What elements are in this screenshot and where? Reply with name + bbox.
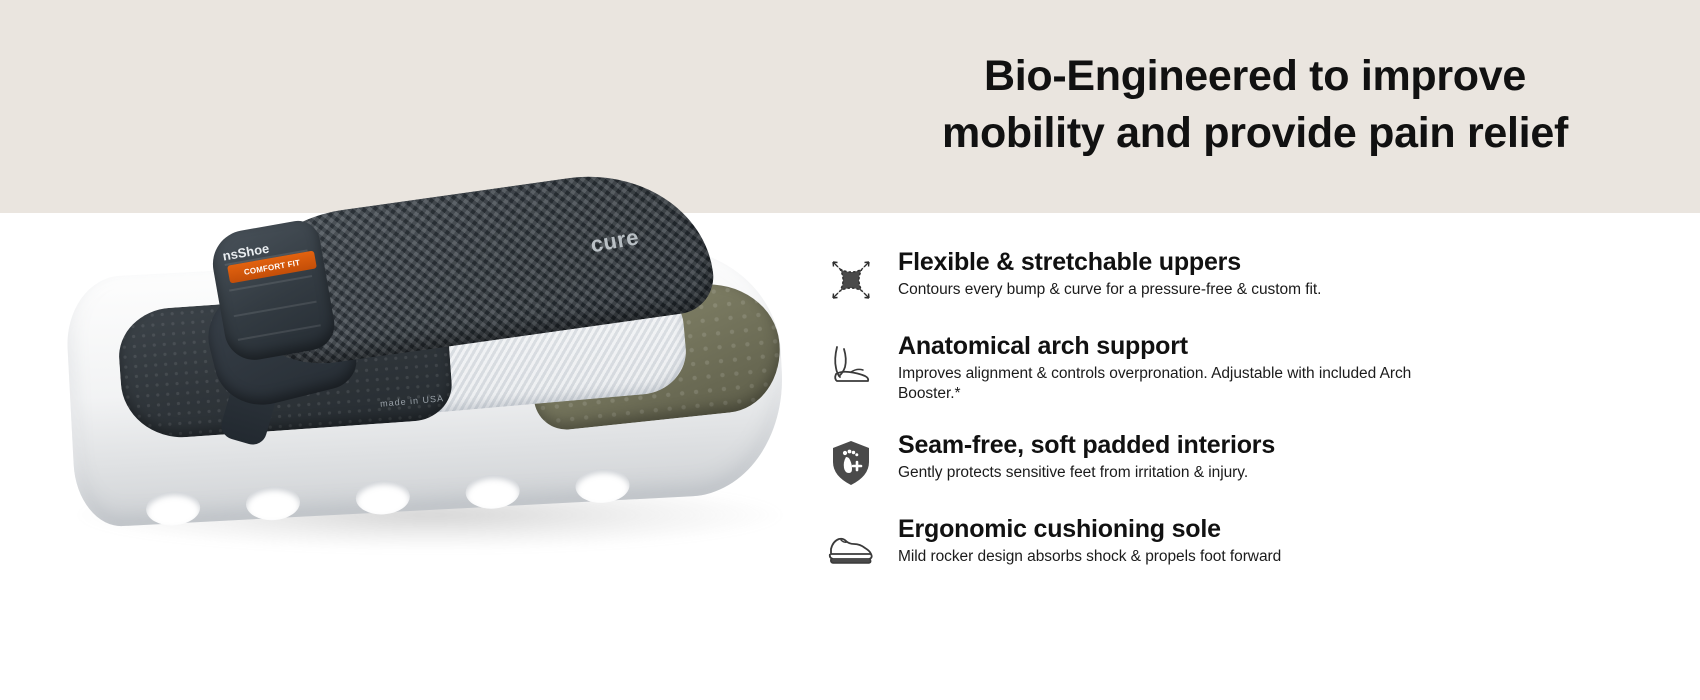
page-title: Bio-Engineered to improve mobility and p… xyxy=(905,48,1605,162)
cushioned-shoe-icon xyxy=(820,515,882,573)
stretch-fabric-icon xyxy=(820,248,882,306)
feature-text: Ergonomic cushioning sole Mild rocker de… xyxy=(882,515,1281,567)
feature-text: Seam-free, soft padded interiors Gently … xyxy=(882,431,1275,483)
sandal-illustration: nsShoe COMFORT FIT cure made in USA xyxy=(60,180,800,570)
feature-description: Gently protects sensitive feet from irri… xyxy=(898,463,1275,483)
feature-title: Seam-free, soft padded interiors xyxy=(898,431,1275,459)
feature-item: Flexible & stretchable uppers Contours e… xyxy=(820,248,1540,306)
outsole-lug xyxy=(465,473,521,510)
seam-line xyxy=(238,324,321,341)
feature-list: Flexible & stretchable uppers Contours e… xyxy=(820,248,1540,599)
foot-arch-icon xyxy=(820,332,882,390)
feature-title: Ergonomic cushioning sole xyxy=(898,515,1281,543)
feature-description: Improves alignment & controls overpronat… xyxy=(898,364,1458,405)
headline-line-1: Bio-Engineered to improve xyxy=(905,48,1605,105)
headline-line-2: mobility and provide pain relief xyxy=(905,105,1605,162)
feature-description: Contours every bump & curve for a pressu… xyxy=(898,280,1321,300)
feature-item: Anatomical arch support Improves alignme… xyxy=(820,332,1540,405)
feature-item: Ergonomic cushioning sole Mild rocker de… xyxy=(820,515,1540,573)
promo-banner: Bio-Engineered to improve mobility and p… xyxy=(0,0,1700,700)
outsole-lug xyxy=(145,490,201,527)
feature-title: Flexible & stretchable uppers xyxy=(898,248,1321,276)
feature-title: Anatomical arch support xyxy=(898,332,1458,360)
seam-line xyxy=(234,301,317,318)
outsole-lug xyxy=(355,479,411,516)
feature-text: Anatomical arch support Improves alignme… xyxy=(882,332,1458,405)
feature-text: Flexible & stretchable uppers Contours e… xyxy=(882,248,1321,300)
product-image: nsShoe COMFORT FIT cure made in USA xyxy=(0,150,860,580)
shield-foot-protection-icon xyxy=(820,431,882,489)
feature-item: Seam-free, soft padded interiors Gently … xyxy=(820,431,1540,489)
outsole-lug xyxy=(575,468,631,505)
outsole-lug xyxy=(245,485,301,522)
feature-description: Mild rocker design absorbs shock & prope… xyxy=(898,547,1281,567)
